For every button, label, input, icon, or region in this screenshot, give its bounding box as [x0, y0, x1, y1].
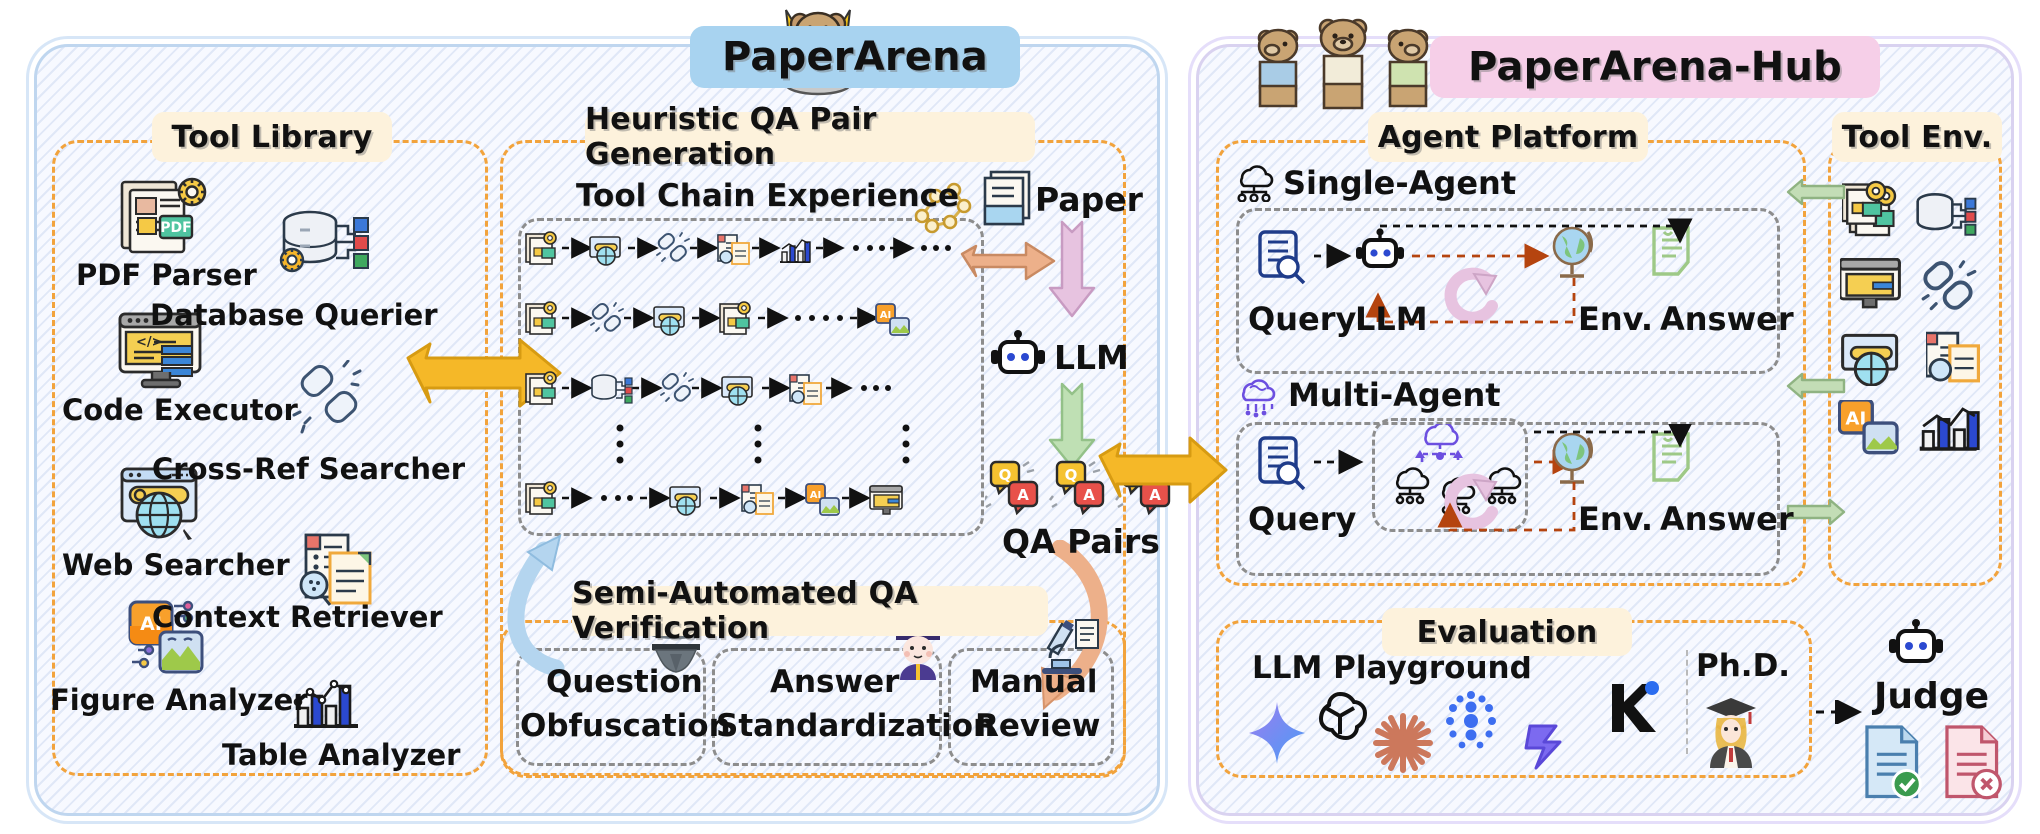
verification-title-pill: Semi-Automated QA Verification	[572, 586, 1048, 636]
tool-label-database-querier: Database Querier	[150, 298, 438, 332]
kimi-icon	[1604, 676, 1664, 736]
tool-env-title: Tool Env.	[1842, 120, 1993, 155]
qwen-dots-icon	[1440, 690, 1502, 752]
cloud-network-icon	[1232, 162, 1276, 202]
tool-env-web-searcher-icon	[1840, 332, 1906, 386]
context-retriever-icon	[294, 527, 378, 609]
verification-loop-arrow	[488, 530, 578, 680]
tool-library-title-pill: Tool Library	[152, 112, 392, 162]
pdf-parser-icon: PDF	[118, 172, 208, 258]
qa-pairs-label: QA Pairs	[1002, 522, 1160, 561]
tool-label-cross-ref-searcher: Cross-Ref Searcher	[152, 452, 465, 486]
multi-agent-label: Multi-Agent	[1288, 376, 1501, 414]
multi-agent-node-answer: Answer	[1660, 500, 1794, 538]
tool-label-context-retriever: Context Retriever	[152, 600, 443, 634]
gemini-sparkle-icon	[1246, 700, 1308, 766]
tool-env-code-executor-icon	[1840, 258, 1906, 310]
tool-env-title-pill: Tool Env.	[1832, 112, 2002, 162]
agent-platform-title-pill: Agent Platform	[1368, 112, 1648, 162]
single-agent-node-env: Env.	[1578, 300, 1653, 338]
verification-step-1-line1: Answer	[770, 664, 899, 700]
paperarena-title-pill: PaperArena	[690, 26, 1020, 88]
tool-library-title: Tool Library	[171, 120, 372, 155]
three-bears-mascot-icon	[1242, 10, 1452, 114]
svg-text:Q: Q	[1065, 466, 1078, 484]
verification-step-0-line2: Obfuscation	[520, 708, 731, 744]
document-cross-icon	[1942, 724, 2004, 802]
paperarena-hub-title-pill: PaperArena-Hub	[1430, 36, 1880, 98]
qa-generation-title: Heuristic QA Pair Generation	[585, 102, 1035, 172]
tool-env-table-analyzer-icon	[1918, 400, 1980, 456]
agent-platform-title: Agent Platform	[1378, 120, 1639, 155]
tool-label-code-executor: Code Executor	[62, 393, 298, 427]
zhipu-icon	[1516, 716, 1578, 778]
llm-label: LLM	[1054, 338, 1129, 377]
tool-label-figure-analyzer: Figure Analyzer	[50, 683, 308, 717]
judge-feed-arrow	[1814, 700, 1874, 724]
tool-env-context-retriever-icon	[1926, 330, 1980, 384]
judge-label: Judge	[1874, 676, 1989, 717]
openai-icon	[1310, 686, 1370, 746]
tool-chain-rows: AI	[520, 222, 978, 530]
green-double-arrow-top	[1786, 178, 1846, 222]
database-querier-icon	[278, 206, 370, 284]
paperarena-hub-title: PaperArena-Hub	[1468, 44, 1842, 90]
verification-step-2-line2: Review	[975, 708, 1100, 744]
evaluation-title: Evaluation	[1417, 615, 1598, 650]
phd-label: Ph.D.	[1696, 648, 1790, 684]
figure-root: PaperArena Tool Library	[0, 0, 2040, 834]
multi-agent-node-query: Query	[1248, 500, 1356, 538]
single-agent-flow	[1244, 212, 1774, 368]
robot-icon-judge	[1886, 618, 1946, 672]
tool-chain-heading: Tool Chain Experience	[576, 178, 959, 214]
brain-rain-icon	[1236, 376, 1280, 418]
qa-generation-title-pill: Heuristic QA Pair Generation	[585, 112, 1035, 162]
tool-label-web-searcher: Web Searcher	[62, 548, 290, 582]
svg-text:A: A	[1017, 486, 1029, 504]
paperarena-title: PaperArena	[722, 34, 988, 80]
green-double-arrow-mid	[1786, 372, 1846, 416]
single-agent-label: Single-Agent	[1283, 164, 1516, 202]
verification-step-1-line2: Standardization	[716, 708, 995, 744]
cross-ref-searcher-icon	[288, 360, 370, 444]
tool-label-pdf-parser: PDF Parser	[76, 258, 257, 292]
green-double-arrow-bottom	[1786, 498, 1846, 542]
svg-text:Q: Q	[999, 466, 1012, 484]
tool-env-pdf-parser-icon	[1842, 180, 1902, 236]
tool-env-database-querier-icon	[1912, 190, 1984, 242]
tool-env-cross-ref-searcher-icon	[1920, 258, 1978, 314]
verification-step-2-line1: Manual	[970, 664, 1097, 700]
claude-icon	[1370, 710, 1436, 776]
document-check-icon	[1862, 724, 1924, 802]
multi-agent-node-env: Env.	[1578, 500, 1653, 538]
single-agent-node-answer: Answer	[1660, 300, 1794, 338]
svg-text:A: A	[1083, 486, 1095, 504]
evaluation-title-pill: Evaluation	[1382, 608, 1632, 656]
graduate-icon	[1700, 696, 1762, 768]
paper-label: Paper	[1035, 180, 1143, 219]
verification-step-0-line1: Question	[546, 664, 703, 700]
svg-text:PDF: PDF	[160, 220, 191, 236]
paper-to-llm-arrow	[1048, 220, 1096, 320]
verification-title: Semi-Automated QA Verification	[572, 576, 1048, 646]
tool-label-table-analyzer: Table Analyzer	[222, 738, 460, 772]
qa-to-hub-arrow	[1098, 430, 1228, 510]
evaluation-divider	[1686, 650, 1688, 754]
multi-agent-flow	[1244, 424, 1774, 570]
chain-to-paper-arrow	[960, 238, 1056, 284]
tool-env-figure-analyzer-icon: AI	[1838, 400, 1900, 456]
llm-to-qa-arrow	[1048, 382, 1096, 470]
robot-icon-llm	[988, 330, 1048, 382]
single-agent-node-llm: LLM	[1355, 300, 1428, 338]
single-agent-node-query: Query	[1248, 300, 1356, 338]
